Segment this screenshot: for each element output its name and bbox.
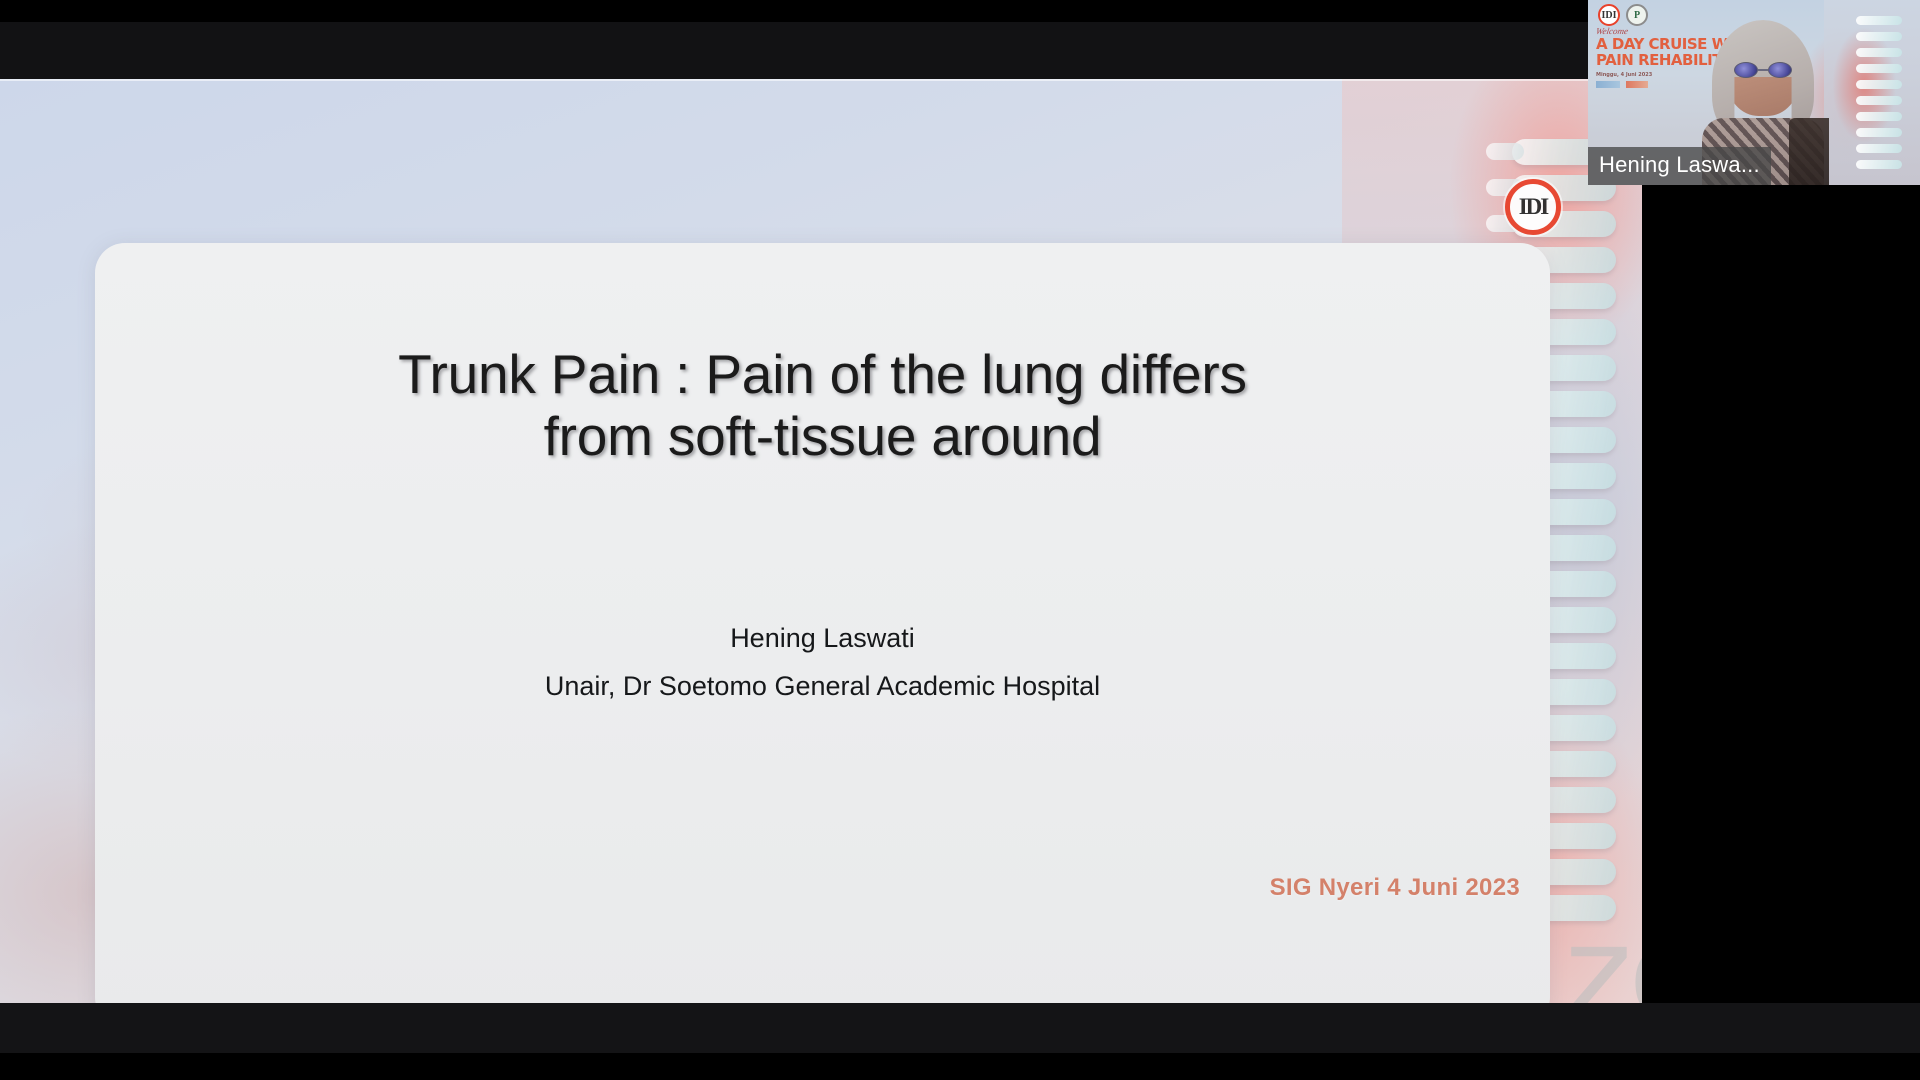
person-chair [1789,118,1829,185]
idi-mini-logo-glyph: IDI [1601,10,1616,21]
letterbox-bottom-inner [0,1003,1920,1053]
participant-name-label: Hening Laswa... [1588,147,1771,185]
letterbox-bottom-outer [0,1053,1920,1080]
title-line-2: from soft-tissue around [165,405,1480,467]
idi-logo-glyph: IDI [1519,194,1548,220]
title-line-1: Trunk Pain : Pain of the lung differs [165,343,1480,405]
person-glasses [1734,62,1792,78]
perdosri-mini-logo: P [1626,4,1648,26]
idi-mini-logo: IDI [1598,4,1620,26]
page-title: Trunk Pain : Pain of the lung differs fr… [95,343,1550,467]
slide-affiliation: Unair, Dr Soetomo General Academic Hospi… [95,671,1550,702]
zoom-meeting-window: IDI Trunk Pain : Pain of the lung differ… [0,0,1920,1080]
thumbnail-spine-artwork [1824,0,1920,185]
slide-footer: SIG Nyeri 4 Juni 2023 [1100,874,1520,902]
shared-screen-slide[interactable]: IDI Trunk Pain : Pain of the lung differ… [0,79,1642,1003]
perdosri-mini-logo-glyph: P [1634,10,1640,21]
slide-author: Hening Laswati [95,623,1550,654]
idi-logo: IDI [1505,179,1561,235]
empty-video-area [1642,185,1920,1003]
event-logos: IDI P [1598,4,1648,26]
participant-video-tile[interactable]: IDI P Welcome A DAY CRUISE WITH PAIN REH… [1588,0,1920,185]
